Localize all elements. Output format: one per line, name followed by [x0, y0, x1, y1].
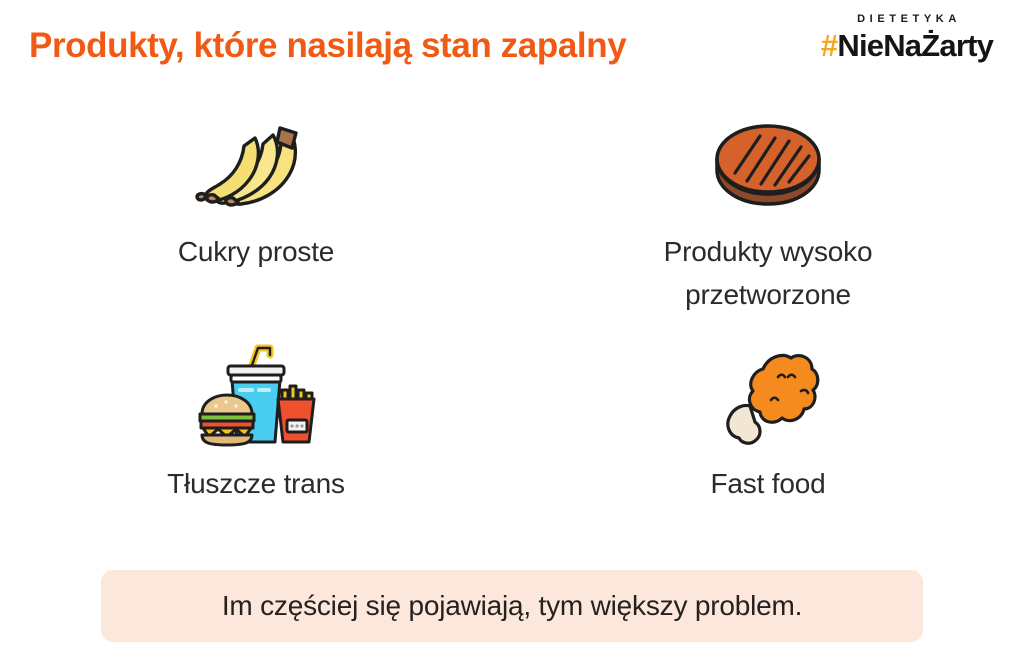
- grid-item-fast-food: Fast food: [512, 328, 1024, 556]
- grid-item-label-line1: Tłuszcze trans: [167, 462, 345, 505]
- grid-item-processed-foods: Produkty wysoko przetworzone: [512, 100, 1024, 328]
- grid-item-label-line2: przetworzone: [664, 273, 873, 316]
- page-title: Produkty, które nasilają stan zapalny: [29, 26, 626, 66]
- summary-banner: Im częściej się pojawiają, tym większy p…: [101, 570, 923, 642]
- brand-name: #NieNaŻarty: [812, 28, 1002, 64]
- infographic-poster: Produkty, które nasilają stan zapalny DI…: [0, 0, 1024, 669]
- grilled-patty-icon: [693, 114, 843, 214]
- grid-item-simple-sugars: Cukry proste: [0, 100, 512, 328]
- brand-kicker: DIETETYKA: [812, 12, 1002, 26]
- brand-name-text: NieNaŻarty: [837, 28, 993, 63]
- bananas-icon: [181, 114, 331, 214]
- grid-item-label-line1: Cukry proste: [178, 230, 334, 273]
- grid-item-label-line1: Fast food: [711, 462, 826, 505]
- grid-item-label-line1: Produkty wysoko: [664, 230, 873, 273]
- poster-header: Produkty, które nasilają stan zapalny DI…: [0, 0, 1024, 100]
- inflammatory-foods-grid: Cukry proste: [0, 100, 1024, 555]
- grid-item-label: Tłuszcze trans: [167, 462, 345, 505]
- fast-food-combo-icon: [181, 346, 331, 446]
- brand-logo: DIETETYKA #NieNaŻarty: [812, 12, 1002, 64]
- summary-banner-text: Im częściej się pojawiają, tym większy p…: [222, 590, 802, 622]
- grid-item-label: Produkty wysoko przetworzone: [664, 230, 873, 316]
- hash-icon: #: [821, 28, 837, 63]
- grid-item-label: Cukry proste: [178, 230, 334, 273]
- grid-item-label: Fast food: [711, 462, 826, 505]
- grid-item-trans-fats: Tłuszcze trans: [0, 328, 512, 556]
- fried-chicken-drumstick-icon: [693, 346, 843, 446]
